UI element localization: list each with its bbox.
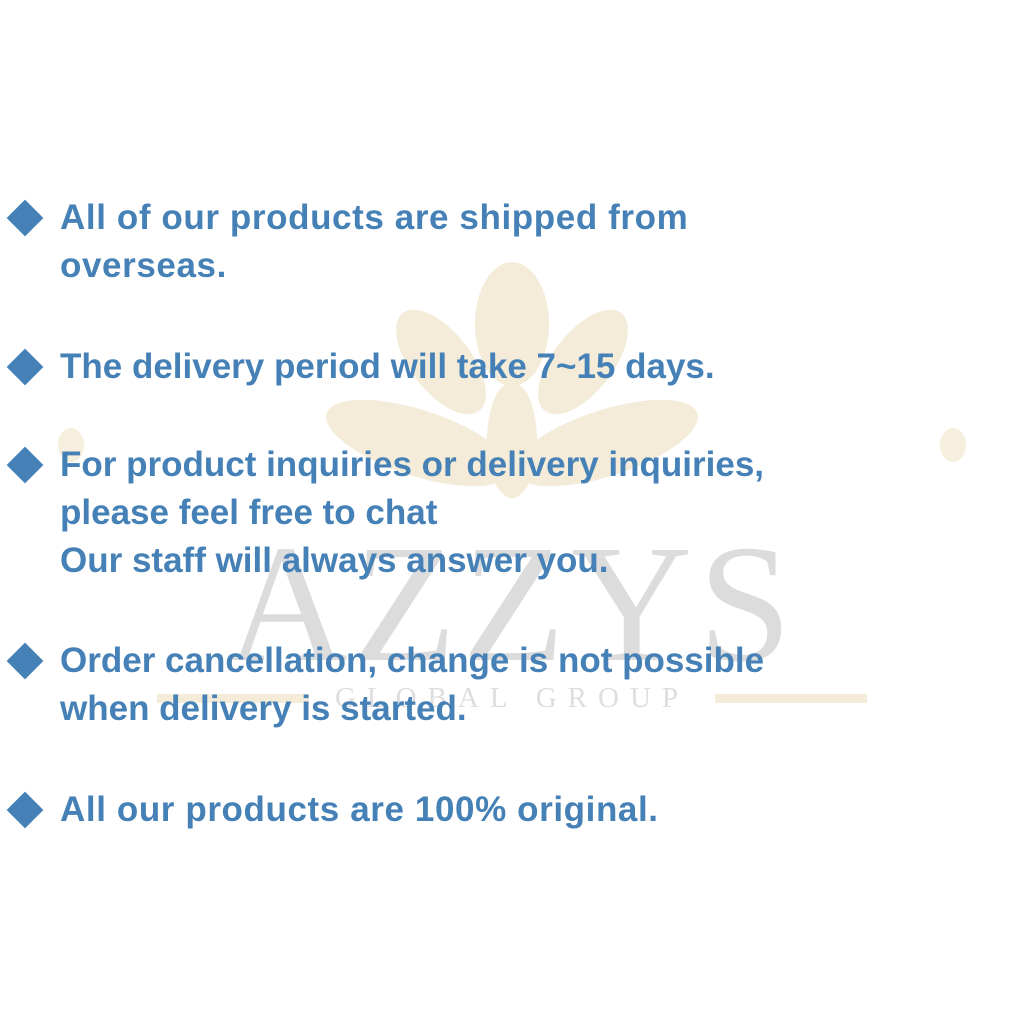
diamond-bullet-icon: [7, 349, 44, 386]
notice-item-text: Order cancellation, change is not possib…: [60, 637, 764, 733]
notice-item-inquiries: For product inquiries or delivery inquir…: [8, 441, 1020, 585]
notice-item-text: All our products are 100% original.: [60, 786, 659, 834]
notice-item-text: All of our products are shipped from ove…: [60, 194, 688, 290]
diamond-bullet-icon: [7, 643, 44, 680]
notice-item-delivery-period: The delivery period will take 7~15 days.: [8, 343, 1020, 391]
notice-banner: AZZYS GLOBAL GROUP All of our products a…: [0, 0, 1024, 1024]
diamond-bullet-icon: [7, 447, 44, 484]
notice-item-shipping-origin: All of our products are shipped from ove…: [8, 194, 1020, 290]
notice-item-text: The delivery period will take 7~15 days.: [60, 343, 715, 391]
notice-item-text: For product inquiries or delivery inquir…: [60, 441, 764, 585]
notice-list: All of our products are shipped from ove…: [0, 0, 1024, 1024]
diamond-bullet-icon: [7, 792, 44, 829]
notice-item-cancellation-policy: Order cancellation, change is not possib…: [8, 637, 1020, 733]
notice-item-authenticity: All our products are 100% original.: [8, 786, 1020, 834]
diamond-bullet-icon: [7, 200, 44, 237]
